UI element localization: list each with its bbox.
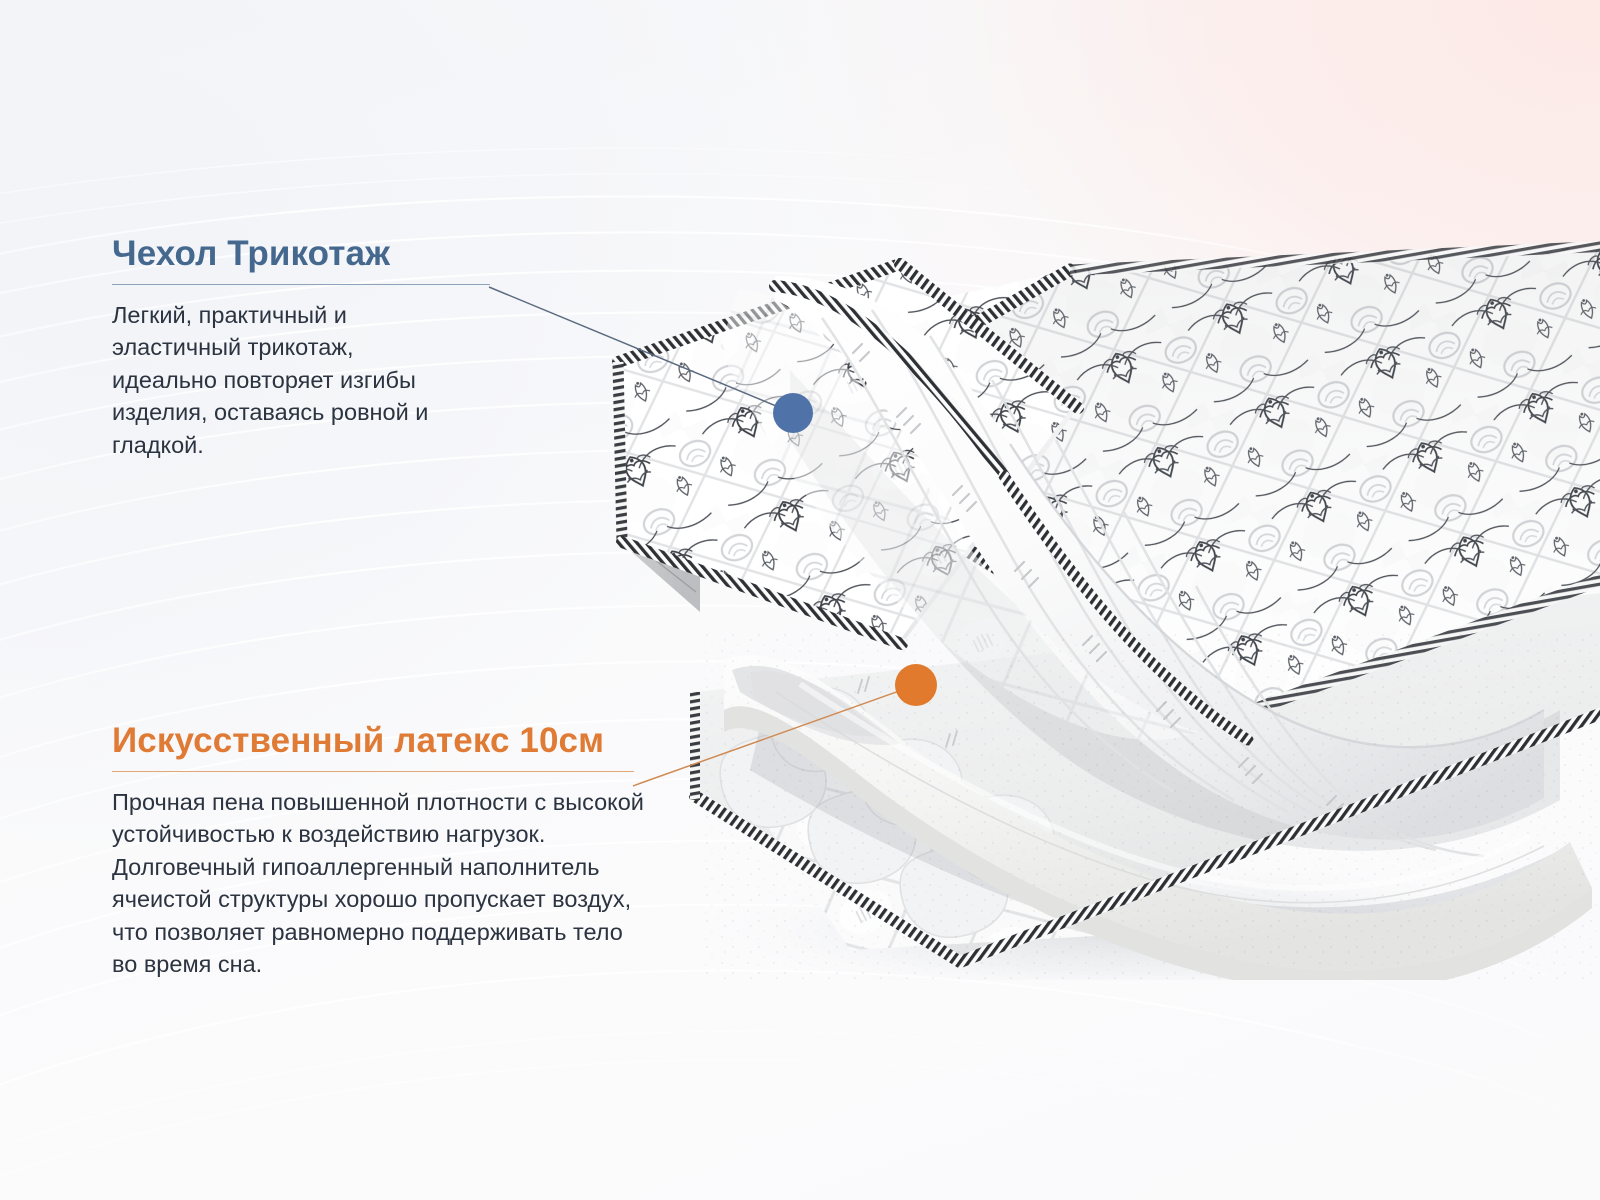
callout-connector-lines: [0, 0, 1600, 1200]
mattress-top-cover-damask: [600, 240, 1600, 760]
connector-line-latex: [633, 685, 916, 786]
marker-dot-latex[interactable]: [895, 664, 937, 706]
callout-cover-body: Легкий, практичный и эластичный трикотаж…: [112, 285, 442, 462]
callout-latex: Искусственный латекс 10см Прочная пена п…: [112, 723, 634, 981]
mattress-left-cover-damask: [600, 240, 1160, 700]
mattress-peeled-cover-flap: [660, 240, 1560, 856]
mattress-cutaway-illustration: [600, 240, 1600, 980]
background-swoosh-lines: [0, 0, 1600, 1200]
callout-cover-title: Чехол Трикотаж: [112, 236, 490, 273]
callout-latex-title: Искусственный латекс 10см: [112, 723, 634, 760]
callout-cover: Чехол Трикотаж Легкий, практичный и элас…: [112, 236, 490, 461]
callout-latex-body: Прочная пена повышенной плотности с высо…: [112, 772, 652, 981]
marker-dot-cover[interactable]: [773, 393, 813, 433]
connector-line-cover: [489, 287, 793, 413]
infographic-canvas: Чехол Трикотаж Легкий, практичный и элас…: [0, 0, 1600, 1200]
latex-foam-layer: [700, 630, 1600, 980]
mattress-base-layer: [660, 592, 1600, 980]
mattress-side-wall: [618, 362, 700, 612]
